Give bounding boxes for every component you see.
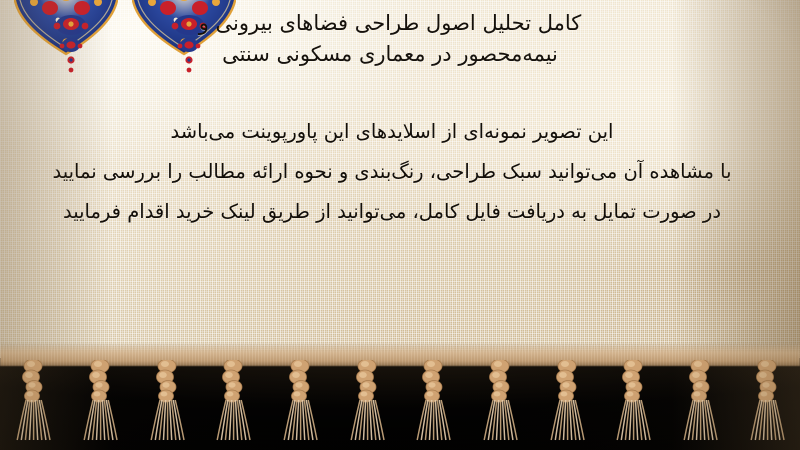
body-line-1: این تصویر نمونه‌ای از اسلایدهای این پاور… <box>0 112 784 152</box>
tassel-icon <box>144 360 190 444</box>
slide-title: کامل تحلیل اصول طراحی فضاهای بیرونی و نی… <box>0 8 800 70</box>
tassel-icon <box>677 360 723 444</box>
tassel-icon <box>610 360 656 444</box>
tassel-icon <box>544 360 590 444</box>
tassel-icon <box>477 360 523 444</box>
tassel-icon <box>410 360 456 444</box>
tassel-icon <box>77 360 123 444</box>
body-line-2: با مشاهده آن می‌توانید سبک طراحی، رنگ‌بن… <box>0 152 784 192</box>
tassel-icon <box>344 360 390 444</box>
tassel-icon <box>210 360 256 444</box>
body-line-3: در صورت تمایل به دریافت فایل کامل، می‌تو… <box>0 192 784 232</box>
title-line-1: کامل تحلیل اصول طراحی فضاهای بیرونی و <box>0 8 780 39</box>
title-line-2: نیمه‌محصور در معماری مسکونی سنتی <box>0 39 780 70</box>
slide-body: این تصویر نمونه‌ای از اسلایدهای این پاور… <box>0 112 800 232</box>
tassel-icon <box>744 360 790 444</box>
carpet-fringe <box>0 354 800 450</box>
tassel-icon <box>277 360 323 444</box>
slide-canvas: کامل تحلیل اصول طراحی فضاهای بیرونی و نی… <box>0 0 800 450</box>
tassel-icon <box>10 360 56 444</box>
